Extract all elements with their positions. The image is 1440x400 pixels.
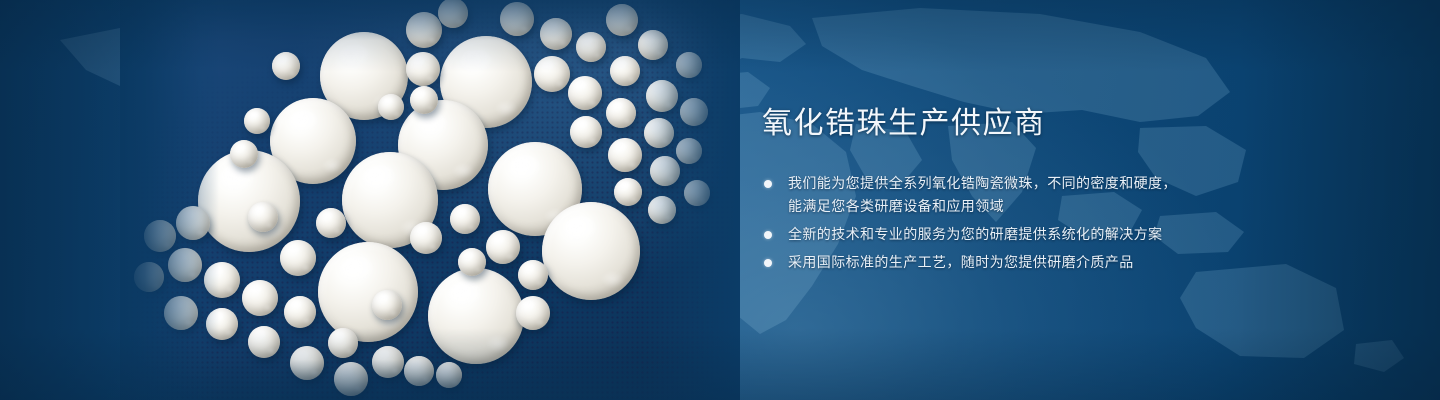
bead-medium <box>450 204 480 234</box>
banner-headline: 氧化锆珠生产供应商 <box>762 104 1232 144</box>
bullet-line: 采用国际标准的生产工艺，随时为您提供研磨介质产品 <box>788 251 1232 274</box>
bead-medium <box>638 30 668 60</box>
zirconia-beads-photo <box>120 0 740 400</box>
bead-large <box>318 242 418 342</box>
bead-large <box>542 202 640 300</box>
bullet-line: 我们能为您提供全系列氧化锆陶瓷微珠，不同的密度和硬度， <box>788 172 1232 195</box>
bead-medium <box>680 98 708 126</box>
bead-medium <box>410 222 442 254</box>
bead-medium <box>540 18 572 50</box>
bead-medium <box>500 2 534 36</box>
bead-medium <box>372 290 402 320</box>
bullet-line: 能满足您各类研磨设备和应用领域 <box>788 195 1232 218</box>
bead-medium <box>436 362 462 388</box>
bead-medium <box>242 280 278 316</box>
bead-medium <box>248 202 278 232</box>
bullet-item: 全新的技术和专业的服务为您的研磨提供系统化的解决方案 <box>762 223 1232 246</box>
bead-medium <box>204 262 240 298</box>
bead-medium <box>486 230 520 264</box>
bead-medium <box>328 328 358 358</box>
bead-medium <box>134 262 164 292</box>
bead-medium <box>280 240 316 276</box>
bullet-dot-icon <box>764 259 772 267</box>
bead-medium <box>650 156 680 186</box>
banner-bullet-list: 我们能为您提供全系列氧化锆陶瓷微珠，不同的密度和硬度， 能满足您各类研磨设备和应… <box>762 172 1232 274</box>
bead-medium <box>164 296 198 330</box>
bead-medium <box>404 356 434 386</box>
bead-large <box>428 268 524 364</box>
bead-medium <box>316 208 346 238</box>
bead-medium <box>458 248 486 276</box>
bead-medium <box>406 12 442 48</box>
bullet-item: 我们能为您提供全系列氧化锆陶瓷微珠，不同的密度和硬度， 能满足您各类研磨设备和应… <box>762 172 1232 218</box>
banner-copy: 氧化锆珠生产供应商 我们能为您提供全系列氧化锆陶瓷微珠，不同的密度和硬度， 能满… <box>762 104 1232 274</box>
bead-medium <box>272 52 300 80</box>
bead-medium <box>410 86 438 114</box>
bead-medium <box>144 220 176 252</box>
bead-medium <box>646 80 678 112</box>
hero-banner: 氧化锆珠生产供应商 我们能为您提供全系列氧化锆陶瓷微珠，不同的密度和硬度， 能满… <box>0 0 1440 400</box>
bead-medium <box>406 52 440 86</box>
bead-medium <box>606 4 638 36</box>
bead-medium <box>610 56 640 86</box>
bead-medium <box>648 196 676 224</box>
bead-medium <box>516 296 550 330</box>
bullet-dot-icon <box>764 231 772 239</box>
bead-medium <box>684 180 710 206</box>
bead-medium <box>438 0 468 28</box>
bead-medium <box>568 76 602 110</box>
bead-medium <box>608 138 642 172</box>
bead-medium <box>378 94 404 120</box>
bullet-item: 采用国际标准的生产工艺，随时为您提供研磨介质产品 <box>762 251 1232 274</box>
bead-medium <box>614 178 642 206</box>
bullet-line: 全新的技术和专业的服务为您的研磨提供系统化的解决方案 <box>788 223 1232 246</box>
bead-medium <box>644 118 674 148</box>
bead-medium <box>206 308 238 340</box>
bead-medium <box>576 32 606 62</box>
bullet-dot-icon <box>764 180 772 188</box>
bead-medium <box>676 138 702 164</box>
bead-medium <box>176 206 210 240</box>
bead-cluster <box>120 0 740 400</box>
bead-medium <box>534 56 570 92</box>
bead-medium <box>676 52 702 78</box>
bead-medium <box>606 98 636 128</box>
bead-medium <box>518 260 548 290</box>
bead-medium <box>168 248 202 282</box>
bead-medium <box>244 108 270 134</box>
bead-medium <box>230 140 258 168</box>
bead-medium <box>334 362 368 396</box>
bead-medium <box>372 346 404 378</box>
bead-medium <box>248 326 280 358</box>
bead-medium <box>570 116 602 148</box>
bead-medium <box>284 296 316 328</box>
bead-medium <box>290 346 324 380</box>
